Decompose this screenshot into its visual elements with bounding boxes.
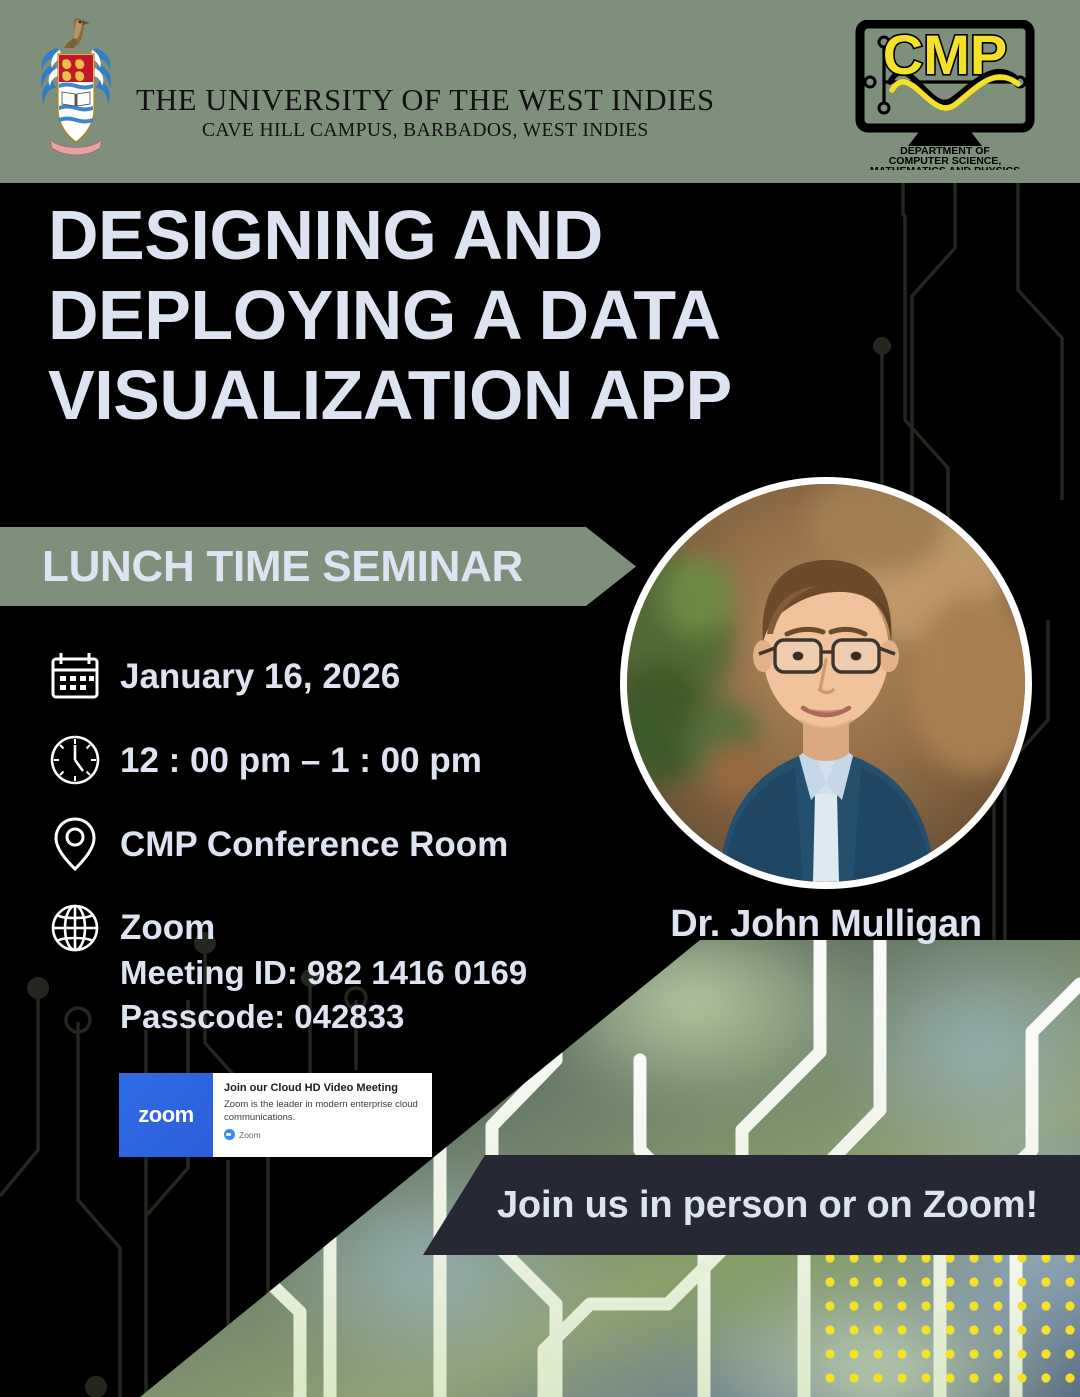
zoom-wordmark: zoom — [138, 1102, 193, 1128]
location-pin-icon — [44, 813, 106, 875]
zoom-card-title: Join our Cloud HD Video Meeting — [224, 1082, 422, 1095]
campus-line: CAVE HILL CAMPUS, BARBADOS, WEST INDIES — [202, 120, 649, 142]
title-line-3: VISUALIZATION APP — [48, 356, 838, 436]
university-text-block: THE UNIVERSITY OF THE WEST INDIES CAVE H… — [136, 83, 715, 142]
event-details-list: January 16, 2026 — [44, 645, 604, 1060]
detail-row-time: 12 : 00 pm – 1 : 00 pm — [44, 729, 604, 791]
title-line-1: DESIGNING AND — [48, 196, 838, 276]
title-line-2: DEPLOYING A DATA — [48, 276, 838, 356]
zoom-card-body: Join our Cloud HD Video Meeting Zoom is … — [213, 1073, 432, 1157]
detail-row-date: January 16, 2026 — [44, 645, 604, 707]
detail-location-text: CMP Conference Room — [120, 813, 508, 862]
zoom-logo-panel: zoom — [119, 1073, 213, 1157]
cmp-department-logo: CMP DEPARTMENT OF COMPUTER SCIENCE, MATH… — [852, 20, 1038, 170]
seminar-poster: THE UNIVERSITY OF THE WEST INDIES CAVE H… — [0, 0, 1080, 1397]
university-lockup: THE UNIVERSITY OF THE WEST INDIES CAVE H… — [30, 14, 715, 164]
zoom-link-preview-card[interactable]: zoom Join our Cloud HD Video Meeting Zoo… — [119, 1073, 432, 1157]
seminar-type-label: LUNCH TIME SEMINAR — [42, 542, 523, 592]
detail-date-text: January 16, 2026 — [120, 645, 400, 694]
detail-row-location: CMP Conference Room — [44, 813, 604, 875]
header-band: THE UNIVERSITY OF THE WEST INDIES CAVE H… — [0, 0, 1080, 183]
zoom-label: Zoom — [120, 908, 215, 947]
cmp-acronym: CMP — [883, 23, 1007, 86]
zoom-card-footer: Zoom — [224, 1129, 422, 1140]
zoom-camera-icon — [224, 1129, 235, 1140]
uwi-coat-of-arms-icon — [30, 14, 122, 164]
calendar-icon — [44, 645, 106, 707]
zoom-meeting-id: Meeting ID: 982 1416 0169 — [120, 951, 527, 995]
globe-icon — [44, 897, 106, 959]
detail-row-zoom: Zoom Meeting ID: 982 1416 0169 Passcode:… — [44, 897, 604, 1038]
dept-line-3: MATHEMATICS AND PHYSICS — [870, 165, 1020, 170]
zoom-passcode: Passcode: 042833 — [120, 995, 527, 1039]
call-to-action-banner: Join us in person or on Zoom! — [423, 1155, 1080, 1255]
call-to-action-text: Join us in person or on Zoom! — [465, 1184, 1038, 1227]
detail-time-text: 12 : 00 pm – 1 : 00 pm — [120, 729, 482, 778]
clock-icon — [44, 729, 106, 791]
zoom-card-source: Zoom — [239, 1130, 261, 1140]
poster-title: DESIGNING AND DEPLOYING A DATA VISUALIZA… — [48, 196, 838, 435]
speaker-portrait — [620, 477, 1032, 889]
zoom-card-description: Zoom is the leader in modern enterprise … — [224, 1099, 422, 1124]
seminar-type-banner: LUNCH TIME SEMINAR — [0, 527, 636, 606]
speaker-name: Dr. John Mulligan — [620, 903, 1032, 946]
zoom-info-block: Zoom Meeting ID: 982 1416 0169 Passcode:… — [120, 897, 527, 1038]
university-name: THE UNIVERSITY OF THE WEST INDIES — [136, 83, 715, 118]
